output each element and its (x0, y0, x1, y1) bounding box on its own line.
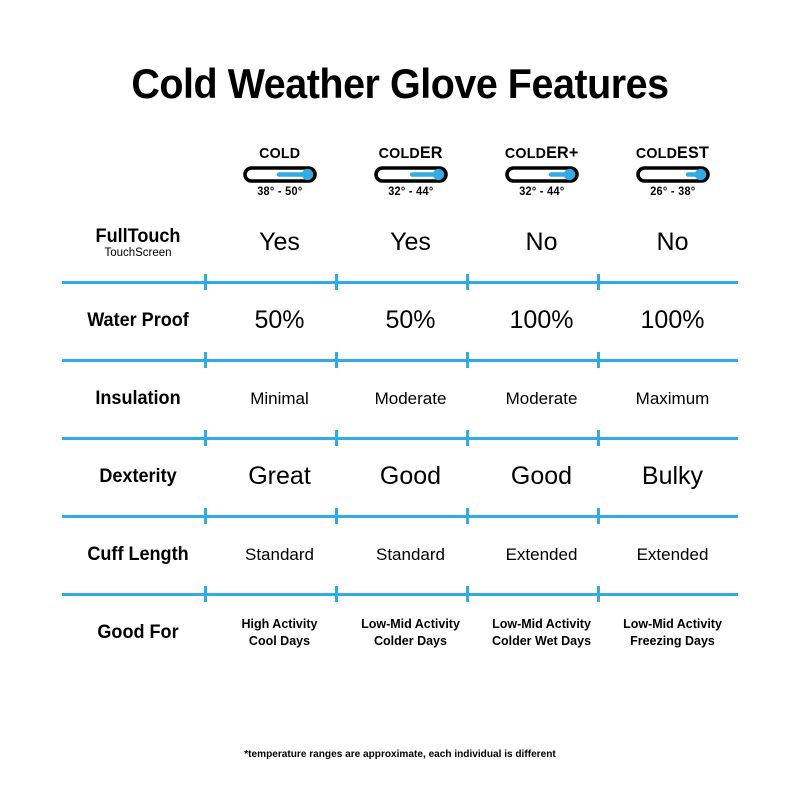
column-temp-range: 38° - 50° (257, 186, 302, 198)
cell-value: High Activity Cool Days (214, 616, 345, 650)
column-name-prefix: COLD (636, 145, 677, 162)
divider-tick (335, 430, 338, 446)
row-divider (62, 274, 738, 290)
divider-tick (204, 586, 207, 602)
cell-value: Standard (214, 546, 345, 565)
table-row: FullTouch TouchScreen Yes Yes No No (62, 212, 738, 274)
divider-tick (204, 352, 207, 368)
cell-value-line: Colder Wet Days (476, 633, 607, 650)
divider-tick (204, 508, 207, 524)
cell-value-line: Freezing Days (607, 633, 738, 650)
cell-value-line: High Activity (214, 616, 345, 633)
table-row: Cuff Length Standard Standard Extended E… (62, 524, 738, 586)
table-header-row: COLD 38° - 50° COLDER 32° - 44° COLD (62, 140, 738, 212)
row-divider (62, 352, 738, 368)
column-name-prefix: COLD (259, 145, 300, 162)
column-header-cold: COLD 38° - 50° (214, 140, 345, 198)
row-label-text: FullTouch (66, 227, 210, 247)
column-name-suffix: ER (420, 143, 443, 162)
thermometer-icon (374, 166, 448, 183)
divider-tick (466, 586, 469, 602)
divider-tick (597, 586, 600, 602)
row-label-fulltouch: FullTouch TouchScreen (62, 227, 214, 260)
divider-bar (62, 359, 738, 362)
cell-value: Yes (214, 229, 345, 257)
cell-value-line: Low-Mid Activity (345, 616, 476, 633)
divider-bar (62, 281, 738, 284)
divider-tick (466, 274, 469, 290)
cell-value: Moderate (345, 390, 476, 409)
row-sublabel-text: TouchScreen (62, 247, 214, 259)
row-label-dexterity: Dexterity (62, 467, 214, 487)
column-temp-range: 32° - 44° (519, 186, 564, 198)
cell-value: Low-Mid Activity Colder Days (345, 616, 476, 650)
cell-value: 50% (345, 307, 476, 335)
cell-value: Extended (476, 546, 607, 565)
divider-tick (204, 274, 207, 290)
cell-value: 50% (214, 307, 345, 335)
cell-value: Good (476, 463, 607, 491)
divider-tick (466, 508, 469, 524)
cell-value: Extended (607, 546, 738, 565)
row-label-insulation: Insulation (62, 389, 214, 409)
column-name-suffix: ER+ (546, 143, 578, 162)
row-label-water-proof: Water Proof (62, 311, 214, 331)
footnote: *temperature ranges are approximate, eac… (16, 748, 784, 760)
divider-tick (597, 430, 600, 446)
thermometer-icon (505, 166, 579, 183)
divider-tick (597, 508, 600, 524)
column-name-prefix: COLD (505, 145, 546, 162)
table-row: Dexterity Great Good Good Bulky (62, 446, 738, 508)
column-name: COLDEST (636, 144, 709, 161)
divider-tick (335, 352, 338, 368)
column-header-colder-plus: COLDER+ 32° - 44° (476, 140, 607, 198)
row-label-text: Water Proof (66, 311, 210, 331)
cell-value: Yes (345, 229, 476, 257)
row-divider (62, 430, 738, 446)
cell-value: Good (345, 463, 476, 491)
cell-value-line: Colder Days (345, 633, 476, 650)
cell-value: 100% (476, 307, 607, 335)
cell-value-line: Low-Mid Activity (607, 616, 738, 633)
thermometer-icon (243, 166, 317, 183)
cell-value: Low-Mid Activity Freezing Days (607, 616, 738, 650)
row-label-text: Dexterity (66, 467, 210, 487)
cell-value: Moderate (476, 390, 607, 409)
column-name: COLDER+ (505, 144, 579, 161)
column-header-coldest: COLDEST 26° - 38° (607, 140, 738, 198)
divider-bar (62, 593, 738, 596)
row-divider (62, 586, 738, 602)
divider-bar (62, 437, 738, 440)
divider-tick (335, 508, 338, 524)
divider-tick (335, 274, 338, 290)
column-name-prefix: COLD (379, 145, 420, 162)
divider-tick (204, 430, 207, 446)
row-label-good-for: Good For (62, 623, 214, 643)
column-name-suffix: EST (677, 143, 709, 162)
row-label-text: Cuff Length (66, 545, 210, 565)
divider-tick (335, 586, 338, 602)
row-divider (62, 508, 738, 524)
column-temp-range: 26° - 38° (650, 186, 695, 198)
table-row: Good For High Activity Cool Days Low-Mid… (62, 602, 738, 664)
cell-value: 100% (607, 307, 738, 335)
row-label-text: Insulation (66, 389, 210, 409)
cell-value: Minimal (214, 390, 345, 409)
glove-comparison-chart: Cold Weather Glove Features COLD 38° - 5… (0, 0, 800, 800)
column-temp-range: 32° - 44° (388, 186, 433, 198)
column-name: COLD (259, 144, 300, 161)
divider-tick (466, 352, 469, 368)
divider-bar (62, 515, 738, 518)
cell-value: Standard (345, 546, 476, 565)
cell-value: No (607, 229, 738, 257)
cell-value-line: Cool Days (214, 633, 345, 650)
divider-tick (597, 352, 600, 368)
cell-value: No (476, 229, 607, 257)
comparison-table: COLD 38° - 50° COLDER 32° - 44° COLD (62, 140, 738, 664)
column-name: COLDER (379, 144, 443, 161)
row-label-text: Good For (66, 623, 210, 643)
column-header-colder: COLDER 32° - 44° (345, 140, 476, 198)
cell-value: Bulky (607, 463, 738, 491)
table-row: Insulation Minimal Moderate Moderate Max… (62, 368, 738, 430)
divider-tick (466, 430, 469, 446)
row-label-cuff-length: Cuff Length (62, 545, 214, 565)
table-row: Water Proof 50% 50% 100% 100% (62, 290, 738, 352)
cell-value: Low-Mid Activity Colder Wet Days (476, 616, 607, 650)
cell-value: Maximum (607, 390, 738, 409)
cell-value: Great (214, 463, 345, 491)
divider-tick (597, 274, 600, 290)
cell-value-line: Low-Mid Activity (476, 616, 607, 633)
page-title: Cold Weather Glove Features (24, 60, 776, 108)
thermometer-icon (636, 166, 710, 183)
